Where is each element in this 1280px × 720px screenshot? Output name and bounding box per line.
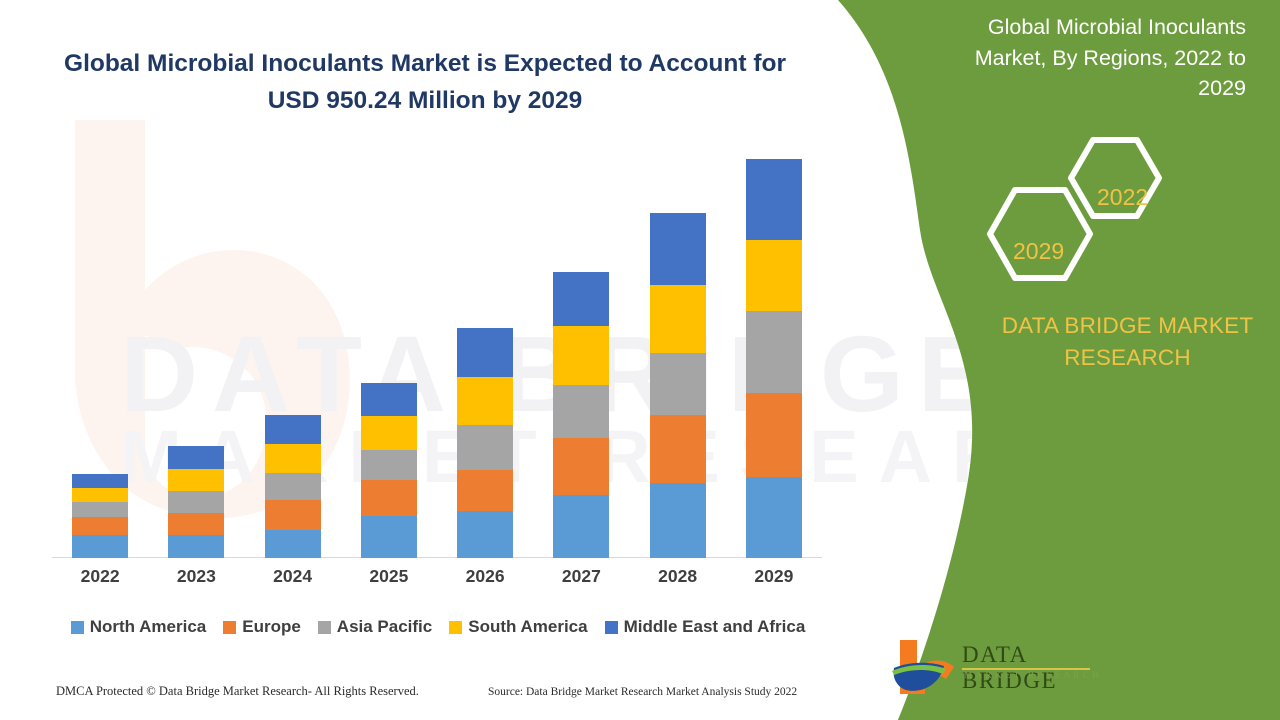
- data-bridge-logo: DATA BRIDGE MARKET RESEARCH: [888, 638, 1103, 700]
- bar-segment: [746, 477, 802, 558]
- legend-label: Europe: [242, 617, 301, 637]
- bar-2023[interactable]: [168, 446, 224, 558]
- x-axis-label-2024: 2024: [248, 566, 338, 587]
- bar-segment: [168, 491, 224, 512]
- x-axis-label-2029: 2029: [729, 566, 819, 587]
- bar-2029[interactable]: [746, 159, 802, 558]
- chart-title: Global Microbial Inoculants Market is Ex…: [40, 46, 810, 120]
- bar-2028[interactable]: [650, 213, 706, 558]
- copyright-notice: DMCA Protected © Data Bridge Market Rese…: [56, 684, 419, 699]
- bar-segment: [361, 480, 417, 517]
- legend-label: Middle East and Africa: [624, 617, 806, 637]
- legend-label: North America: [90, 617, 207, 637]
- bar-segment: [265, 473, 321, 500]
- bar-segment: [265, 500, 321, 530]
- bar-segment: [650, 285, 706, 353]
- bar-segment: [168, 446, 224, 469]
- x-axis-label-2026: 2026: [440, 566, 530, 587]
- legend-item[interactable]: South America: [449, 617, 587, 637]
- bar-2024[interactable]: [265, 415, 321, 558]
- bar-segment: [361, 416, 417, 449]
- x-axis-label-2027: 2027: [536, 566, 626, 587]
- panel-title: Global Microbial Inoculants Market, By R…: [946, 12, 1246, 104]
- bar-segment: [457, 328, 513, 376]
- hexagon-badges: 2022 2029: [985, 128, 1185, 293]
- bar-segment: [650, 213, 706, 285]
- chart-legend: North AmericaEuropeAsia PacificSouth Ame…: [52, 617, 824, 637]
- x-axis-label-2023: 2023: [151, 566, 241, 587]
- bar-segment: [650, 483, 706, 558]
- bar-segment: [361, 450, 417, 480]
- bar-segment: [650, 415, 706, 483]
- bar-segment: [746, 159, 802, 241]
- bar-segment: [168, 513, 224, 536]
- x-axis-label-2022: 2022: [55, 566, 145, 587]
- legend-swatch-icon: [605, 621, 618, 634]
- bar-2026[interactable]: [457, 328, 513, 558]
- bar-segment: [168, 469, 224, 492]
- legend-swatch-icon: [71, 621, 84, 634]
- bar-segment: [168, 535, 224, 558]
- source-note: Source: Data Bridge Market Research Mark…: [488, 686, 797, 698]
- bar-segment: [553, 495, 609, 558]
- bar-segment: [361, 516, 417, 558]
- legend-swatch-icon: [223, 621, 236, 634]
- bar-segment: [361, 383, 417, 416]
- bar-segment: [265, 444, 321, 473]
- bar-2025[interactable]: [361, 383, 417, 558]
- bar-segment: [457, 377, 513, 425]
- logo-wordmark: DATA BRIDGE: [962, 642, 1103, 694]
- bar-segment: [746, 311, 802, 393]
- bar-segment: [265, 530, 321, 558]
- legend-swatch-icon: [449, 621, 462, 634]
- legend-item[interactable]: North America: [71, 617, 207, 637]
- bar-segment: [72, 517, 128, 535]
- bar-segment: [457, 425, 513, 470]
- bar-segment: [72, 502, 128, 517]
- bar-segment: [265, 415, 321, 444]
- x-axis-label-2028: 2028: [633, 566, 723, 587]
- logo-mark-icon: [888, 638, 960, 696]
- hexagon-2029-label: 2029: [1013, 238, 1064, 265]
- bar-segment: [746, 240, 802, 311]
- legend-item[interactable]: Middle East and Africa: [605, 617, 806, 637]
- plot-area: [52, 150, 822, 558]
- bar-segment: [457, 511, 513, 558]
- bar-2022[interactable]: [72, 474, 128, 558]
- bar-segment: [457, 470, 513, 511]
- bar-segment: [746, 393, 802, 478]
- legend-item[interactable]: Asia Pacific: [318, 617, 432, 637]
- hexagon-2022-label: 2022: [1097, 184, 1148, 211]
- bar-segment: [72, 488, 128, 502]
- bar-segment: [553, 326, 609, 385]
- bar-segment: [553, 438, 609, 495]
- brand-name: DATA BRIDGE MARKET RESEARCH: [990, 310, 1265, 374]
- bar-segment: [72, 474, 128, 488]
- legend-item[interactable]: Europe: [223, 617, 301, 637]
- bar-segment: [553, 385, 609, 438]
- legend-label: Asia Pacific: [337, 617, 432, 637]
- chart-infographic: DATA BRIDGE MARKET RESEARCH Global Micro…: [0, 0, 1280, 720]
- x-axis-labels: 20222023202420252026202720282029: [52, 566, 822, 598]
- bar-segment: [72, 535, 128, 558]
- x-axis-label-2025: 2025: [344, 566, 434, 587]
- legend-swatch-icon: [318, 621, 331, 634]
- legend-label: South America: [468, 617, 587, 637]
- bar-2027[interactable]: [553, 272, 609, 558]
- bar-segment: [553, 272, 609, 326]
- bar-segment: [650, 353, 706, 415]
- logo-tagline: MARKET RESEARCH: [964, 671, 1102, 681]
